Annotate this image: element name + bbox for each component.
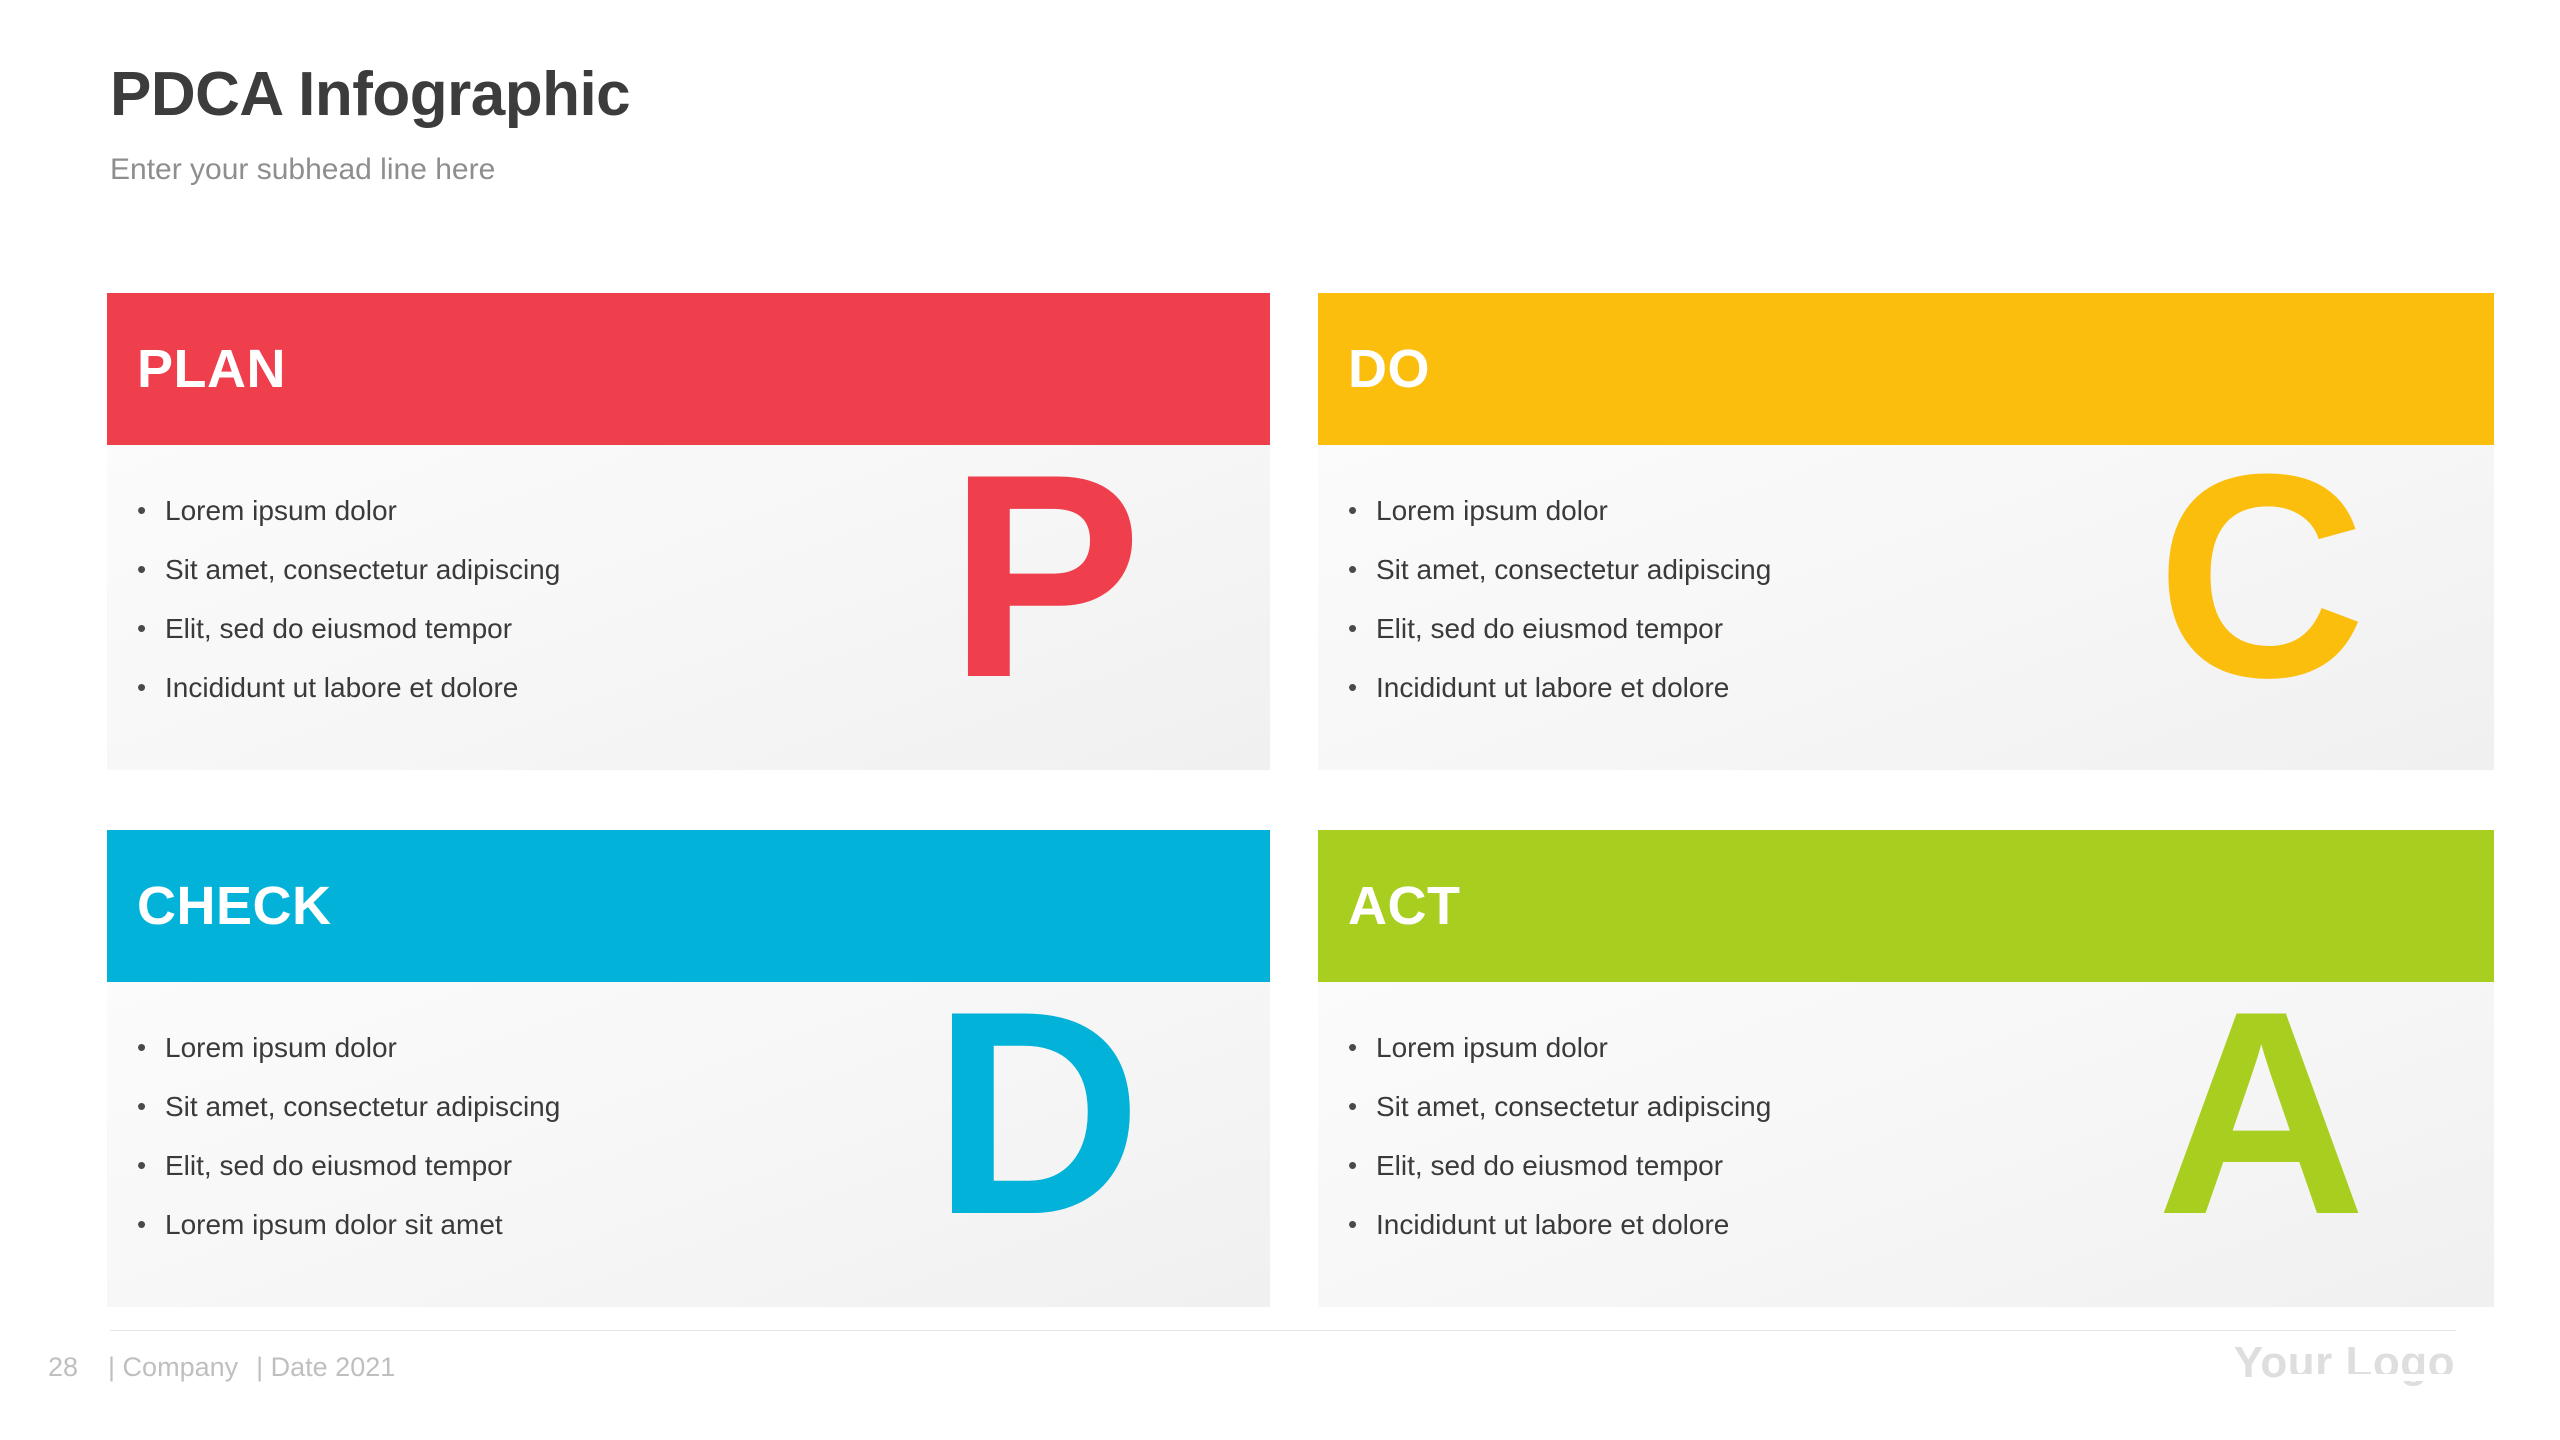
- list-item: • Lorem ipsum dolor: [1348, 1034, 2494, 1093]
- slide-header: PDCA Infographic Enter your subhead line…: [110, 62, 1710, 187]
- list-item: • Lorem ipsum dolor: [137, 497, 1270, 556]
- bullet-dot-icon: •: [137, 556, 165, 583]
- panel-body-check: D • Lorem ipsum dolor • Sit amet, consec…: [107, 982, 1270, 1307]
- footer-meta: 28 | Company | Date 2021: [48, 1352, 395, 1383]
- footer-company: | Company: [108, 1352, 256, 1383]
- bullet-text: Incididunt ut labore et dolore: [1376, 674, 1729, 702]
- panel-act[interactable]: ACT A • Lorem ipsum dolor • Sit amet, co…: [1318, 830, 2494, 1307]
- footer-page-number: 28: [48, 1352, 108, 1383]
- panel-body-act: A • Lorem ipsum dolor • Sit amet, consec…: [1318, 982, 2494, 1307]
- panel-check[interactable]: CHECK D • Lorem ipsum dolor • Sit amet, …: [107, 830, 1270, 1307]
- bullet-text: Lorem ipsum dolor: [165, 497, 397, 525]
- list-item: • Sit amet, consectetur adipiscing: [1348, 556, 2494, 615]
- logo-strike-decoration: [2285, 1374, 2455, 1381]
- panel-title-do: DO: [1348, 342, 1430, 396]
- bullet-dot-icon: •: [137, 1093, 165, 1120]
- panel-plan[interactable]: PLAN P • Lorem ipsum dolor • Sit amet, c…: [107, 293, 1270, 770]
- panel-header-act[interactable]: ACT: [1318, 830, 2494, 982]
- bullet-dot-icon: •: [1348, 674, 1376, 701]
- panel-do[interactable]: DO C • Lorem ipsum dolor • Sit amet, con…: [1318, 293, 2494, 770]
- bullet-text: Lorem ipsum dolor: [1376, 1034, 1608, 1062]
- bullet-text: Sit amet, consectetur adipiscing: [165, 556, 560, 584]
- bullet-list-do: • Lorem ipsum dolor • Sit amet, consecte…: [1318, 445, 2494, 733]
- slide-footer: 28 | Company | Date 2021 Your Logo: [0, 1330, 2560, 1440]
- list-item: • Elit, sed do eiusmod tempor: [1348, 1152, 2494, 1211]
- list-item: • Elit, sed do eiusmod tempor: [1348, 615, 2494, 674]
- pdca-panel-grid: PLAN P • Lorem ipsum dolor • Sit amet, c…: [107, 293, 2453, 1307]
- list-item: • Sit amet, consectetur adipiscing: [137, 1093, 1270, 1152]
- bullet-list-plan: • Lorem ipsum dolor • Sit amet, consecte…: [107, 445, 1270, 733]
- bullet-text: Lorem ipsum dolor: [1376, 497, 1608, 525]
- bullet-text: Elit, sed do eiusmod tempor: [165, 1152, 512, 1180]
- bullet-dot-icon: •: [1348, 497, 1376, 524]
- list-item: • Lorem ipsum dolor sit amet: [137, 1211, 1270, 1270]
- bullet-text: Lorem ipsum dolor: [165, 1034, 397, 1062]
- list-item: • Lorem ipsum dolor: [137, 1034, 1270, 1093]
- bullet-text: Sit amet, consectetur adipiscing: [1376, 1093, 1771, 1121]
- page-subtitle: Enter your subhead line here: [110, 127, 1710, 187]
- bullet-text: Elit, sed do eiusmod tempor: [1376, 615, 1723, 643]
- bullet-text: Sit amet, consectetur adipiscing: [1376, 556, 1771, 584]
- panel-header-check[interactable]: CHECK: [107, 830, 1270, 982]
- panel-title-act: ACT: [1348, 879, 1460, 933]
- bullet-dot-icon: •: [137, 674, 165, 701]
- bullet-dot-icon: •: [1348, 1093, 1376, 1120]
- footer-divider: [110, 1330, 2456, 1331]
- panel-body-do: C • Lorem ipsum dolor • Sit amet, consec…: [1318, 445, 2494, 770]
- bullet-list-act: • Lorem ipsum dolor • Sit amet, consecte…: [1318, 982, 2494, 1270]
- list-item: • Incididunt ut labore et dolore: [137, 674, 1270, 733]
- panel-title-plan: PLAN: [137, 342, 286, 396]
- bullet-dot-icon: •: [1348, 1152, 1376, 1179]
- bullet-text: Lorem ipsum dolor sit amet: [165, 1211, 503, 1239]
- list-item: • Sit amet, consectetur adipiscing: [137, 556, 1270, 615]
- list-item: • Elit, sed do eiusmod tempor: [137, 1152, 1270, 1211]
- bullet-dot-icon: •: [137, 615, 165, 642]
- list-item: • Incididunt ut labore et dolore: [1348, 674, 2494, 733]
- bullet-list-check: • Lorem ipsum dolor • Sit amet, consecte…: [107, 982, 1270, 1270]
- bullet-text: Incididunt ut labore et dolore: [165, 674, 518, 702]
- panel-title-check: CHECK: [137, 879, 332, 933]
- bullet-dot-icon: •: [1348, 615, 1376, 642]
- bullet-dot-icon: •: [137, 1034, 165, 1061]
- page-title: PDCA Infographic: [110, 62, 1710, 127]
- bullet-text: Elit, sed do eiusmod tempor: [1376, 1152, 1723, 1180]
- bullet-text: Sit amet, consectetur adipiscing: [165, 1093, 560, 1121]
- bullet-dot-icon: •: [1348, 556, 1376, 583]
- list-item: • Lorem ipsum dolor: [1348, 497, 2494, 556]
- list-item: • Elit, sed do eiusmod tempor: [137, 615, 1270, 674]
- bullet-dot-icon: •: [1348, 1034, 1376, 1061]
- list-item: • Sit amet, consectetur adipiscing: [1348, 1093, 2494, 1152]
- list-item: • Incididunt ut labore et dolore: [1348, 1211, 2494, 1270]
- bullet-text: Incididunt ut labore et dolore: [1376, 1211, 1729, 1239]
- panel-body-plan: P • Lorem ipsum dolor • Sit amet, consec…: [107, 445, 1270, 770]
- panel-header-plan[interactable]: PLAN: [107, 293, 1270, 445]
- bullet-text: Elit, sed do eiusmod tempor: [165, 615, 512, 643]
- panel-header-do[interactable]: DO: [1318, 293, 2494, 445]
- bullet-dot-icon: •: [137, 1152, 165, 1179]
- bullet-dot-icon: •: [137, 497, 165, 524]
- bullet-dot-icon: •: [1348, 1211, 1376, 1238]
- bullet-dot-icon: •: [137, 1211, 165, 1238]
- slide-canvas: PDCA Infographic Enter your subhead line…: [0, 0, 2560, 1440]
- footer-date: | Date 2021: [256, 1352, 395, 1383]
